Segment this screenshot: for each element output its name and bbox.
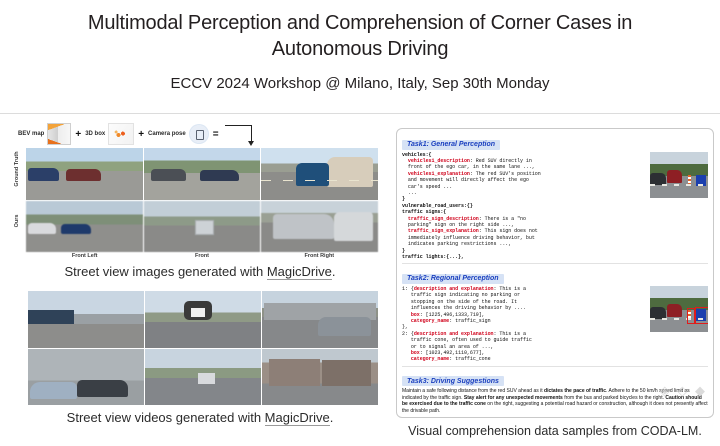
video-cell-1	[28, 291, 144, 348]
task1-image-wrap	[650, 152, 708, 261]
caption-link[interactable]: MagicDrive	[267, 264, 332, 280]
generated-images-grid-wrap: Ground Truth Ours Front Left Fr	[26, 148, 378, 259]
task3-suggestion-text: Maintain a safe following distance from …	[402, 388, 708, 414]
body-text: from the bus and parked bicycles to the …	[563, 395, 666, 401]
caption-images: Street view images generated with MagicD…	[8, 264, 392, 279]
plus-icon-2: +	[137, 129, 145, 140]
bev-map-label: BEV map	[18, 131, 44, 137]
col-label-front: Front	[143, 253, 260, 259]
slide-header: Multimodal Perception and Comprehension …	[0, 0, 720, 94]
red-suv-shape	[667, 170, 682, 183]
street-scene-image	[650, 152, 708, 198]
red-suv-shape-2	[667, 304, 682, 317]
task2-header: Task2: Regional Perception	[402, 274, 504, 284]
equals-icon: =	[212, 129, 220, 140]
code-line: traffic lights:{...},	[402, 254, 646, 260]
truck-shape-2	[296, 163, 329, 186]
header-divider	[0, 113, 720, 114]
coda-lm-sample-panel: Task1: General Perception vehicles:{ veh…	[396, 128, 714, 418]
video-cell-5	[145, 349, 261, 406]
page-title: Multimodal Perception and Comprehension …	[0, 10, 720, 62]
3d-box-label: 3D box	[85, 131, 105, 137]
video-cell-2	[145, 291, 261, 348]
bounding-box-traffic-cone	[687, 308, 695, 324]
video-cell-4	[28, 349, 144, 406]
caption-right-text: Visual comprehension data samples from C…	[408, 424, 702, 438]
caption-images-text: Street view images generated with MagicD…	[65, 264, 336, 280]
emphasis-text: Stay alert for any unexpected movements	[464, 395, 563, 401]
right-column: Task1: General Perception vehicles:{ veh…	[396, 128, 714, 440]
generated-videos-grid-wrap	[28, 291, 378, 405]
image-cell-gt-front-left	[26, 148, 143, 200]
body-text: Maintain a safe following distance from …	[402, 388, 544, 394]
image-cell-gt-front	[144, 148, 261, 200]
video-cell-3	[262, 291, 378, 348]
caption-link[interactable]: MagicDrive	[265, 410, 330, 426]
street-scene-image-annotated	[650, 286, 708, 332]
page-subtitle: ECCV 2024 Workshop @ Milano, Italy, Sep …	[0, 74, 720, 94]
task3-header: Task3: Driving Suggestions	[402, 376, 504, 386]
task2-code-block: 1: {description and explanation: This is…	[402, 286, 646, 363]
task2-image-wrap	[650, 286, 708, 363]
task2-body: 1: {description and explanation: This is…	[402, 286, 708, 363]
camera-pose-label: Camera pose	[148, 131, 186, 137]
col-label-front-right: Front Right	[261, 253, 378, 259]
row-labels: Ground Truth Ours	[10, 148, 24, 252]
arrow-down-icon	[225, 125, 252, 144]
camera-pose-icon	[189, 124, 209, 144]
task-divider-2	[402, 366, 708, 367]
image-cell-ours-front	[144, 201, 261, 253]
col-label-front-left: Front Left	[26, 253, 143, 259]
magicdrive-recipe: BEV map + 3D box + Camera pose =	[18, 120, 392, 148]
generated-videos-grid	[28, 291, 378, 405]
column-labels: Front Left Front Front Right	[26, 253, 378, 259]
left-column: BEV map + 3D box + Camera pose = Ground …	[8, 120, 392, 446]
caption-link[interactable]: CODA-LM	[641, 424, 699, 438]
caption-videos: Street view videos generated with MagicD…	[8, 410, 392, 425]
image-cell-ours-front-left	[26, 201, 143, 253]
content-columns: BEV map + 3D box + Camera pose = Ground …	[0, 120, 720, 446]
lane-marking-shape	[650, 184, 708, 186]
3d-box-thumbnail-icon	[108, 123, 134, 145]
row-label-ours: Ours	[14, 195, 20, 247]
slide-root: Multimodal Perception and Comprehension …	[0, 0, 720, 446]
task1-code-block: vehicles:{ vehicles1_description: Red SU…	[402, 152, 646, 261]
caption-right: Visual comprehension data samples from C…	[396, 424, 714, 438]
generated-images-grid	[26, 148, 378, 252]
emphasis-text: dictates the pace of traffic	[544, 388, 606, 394]
row-label-ground-truth: Ground Truth	[14, 143, 20, 195]
task1-body: vehicles:{ vehicles1_description: Red SU…	[402, 152, 708, 261]
image-cell-gt-front-right	[261, 148, 378, 200]
caption-videos-text: Street view videos generated with MagicD…	[67, 410, 334, 426]
image-cell-ours-front-right	[261, 201, 378, 253]
bev-map-thumbnail-icon	[47, 123, 71, 145]
code-line: category_name: traffic_cone	[402, 356, 646, 362]
video-cell-6	[262, 349, 378, 406]
plus-icon-1: +	[74, 129, 82, 140]
task1-header: Task1: General Perception	[402, 140, 500, 150]
bounding-box-traffic-sign	[695, 307, 708, 324]
task-divider-1	[402, 263, 708, 264]
truck-shape	[327, 157, 374, 187]
